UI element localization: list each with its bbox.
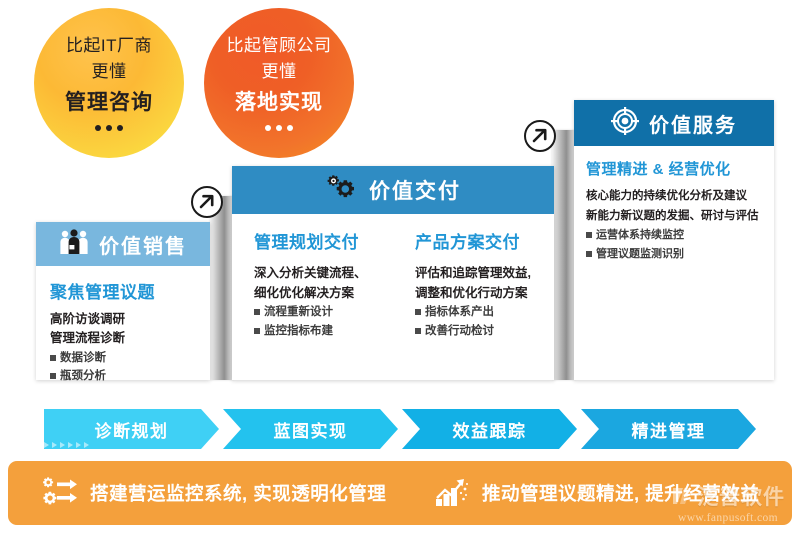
bullet-square-icon — [586, 251, 592, 257]
column-subtitle: 管理规划交付 — [254, 228, 385, 253]
lead-line: 细化优化解决方案 — [254, 283, 385, 303]
process-step-4[interactable]: 精进管理 — [581, 409, 756, 449]
arrow-up-right-circle-icon — [524, 120, 556, 152]
card-header: 价值交付 — [232, 166, 554, 214]
step-divider-2 — [552, 130, 576, 380]
bullet-square-icon — [415, 328, 421, 334]
bubble-line1: 比起IT厂商 — [66, 35, 152, 56]
lead-line: 核心能力的持续优化分析及建议 — [586, 187, 764, 207]
process-step-label: 蓝图实现 — [274, 417, 348, 442]
lead-line: 新能力新议题的发掘、研讨与评估 — [586, 207, 764, 227]
card-column: 管理规划交付 深入分析关键流程、 细化优化解决方案 流程重新设计 监控指标布建 — [232, 228, 393, 341]
process-step-2[interactable]: 蓝图实现 — [223, 409, 398, 449]
growth-chart-icon — [434, 476, 470, 510]
banner-item-text: 搭建营运监控系统, 实现透明化管理 — [90, 480, 386, 506]
bubble-line3: 落地实现 — [235, 90, 323, 116]
bullet-item: 运营体系持续监控 — [586, 226, 764, 245]
card-value-delivery[interactable]: 价值交付 管理规划交付 深入分析关键流程、 细化优化解决方案 流程重新设计 监控… — [232, 166, 554, 380]
lead-line: 调整和优化行动方案 — [415, 283, 546, 303]
process-step-label: 精进管理 — [632, 417, 706, 442]
lead-line: 管理流程诊断 — [50, 329, 196, 348]
bullet-label: 监控指标布建 — [264, 322, 333, 341]
card-column: 聚焦管理议题 高阶访谈调研 管理流程诊断 数据诊断 瓶颈分析 — [50, 278, 196, 386]
column-bullets: 流程重新设计 监控指标布建 — [254, 303, 385, 341]
card-header: 价值服务 — [574, 100, 774, 146]
bullet-label: 改善行动检讨 — [425, 322, 494, 341]
step-divider-1 — [210, 196, 234, 380]
process-step-band: 诊断规划 蓝图实现 效益跟踪 精进管理 — [44, 409, 756, 449]
bullet-square-icon — [50, 373, 56, 379]
bullet-label: 指标体系产出 — [425, 303, 494, 322]
process-step-1[interactable]: 诊断规划 — [44, 409, 219, 449]
column-subtitle: 聚焦管理议题 — [50, 278, 196, 303]
bubble-it-vendor: 比起IT厂商 更懂 管理咨询 — [34, 8, 184, 158]
bubble-consulting-firm: 比起管顾公司 更懂 落地实现 — [204, 8, 354, 158]
bullet-item: 瓶颈分析 — [50, 367, 196, 385]
banner-item-monitoring: 搭建营运监控系统, 实现透明化管理 — [8, 476, 400, 510]
bubble-line2: 更懂 — [262, 61, 297, 82]
gear-arrows-icon — [42, 476, 78, 510]
column-bullets: 数据诊断 瓶颈分析 — [50, 349, 196, 386]
card-body: 管理规划交付 深入分析关键流程、 细化优化解决方案 流程重新设计 监控指标布建 … — [232, 214, 554, 341]
card-title: 价值交付 — [369, 175, 461, 205]
bullet-label: 运营体系持续监控 — [596, 226, 684, 245]
bullet-label: 瓶颈分析 — [60, 367, 106, 385]
column-bullets: 指标体系产出 改善行动检讨 — [415, 303, 546, 341]
bullet-item: 监控指标布建 — [254, 322, 385, 341]
column-lead: 核心能力的持续优化分析及建议 新能力新议题的发掘、研讨与评估 — [586, 187, 764, 226]
bullet-item: 改善行动检讨 — [415, 322, 546, 341]
bullet-item: 数据诊断 — [50, 349, 196, 367]
card-column: 管理精进 & 经营优化 核心能力的持续优化分析及建议 新能力新议题的发掘、研讨与… — [586, 158, 764, 263]
column-subtitle: 产品方案交付 — [415, 228, 546, 253]
card-header: 价值销售 — [36, 222, 210, 266]
bullet-square-icon — [254, 328, 260, 334]
people-group-icon — [59, 229, 89, 260]
column-lead: 高阶访谈调研 管理流程诊断 — [50, 310, 196, 349]
column-lead: 深入分析关键流程、 细化优化解决方案 — [254, 263, 385, 303]
bottom-summary-banner: 搭建营运监控系统, 实现透明化管理 — [8, 461, 792, 525]
lead-line: 深入分析关键流程、 — [254, 263, 385, 283]
banner-item-text: 推动管理议题精进, 提升经营效益 — [482, 480, 759, 506]
bubble-dots — [95, 125, 123, 131]
bullet-label: 管理议题监测识别 — [596, 245, 684, 264]
bullet-square-icon — [415, 309, 421, 315]
process-step-label: 效益跟踪 — [453, 417, 527, 442]
gears-icon — [325, 174, 359, 207]
card-title: 价值服务 — [649, 109, 737, 138]
bubble-line2: 更懂 — [92, 61, 127, 82]
bullet-square-icon — [254, 309, 260, 315]
card-body: 聚焦管理议题 高阶访谈调研 管理流程诊断 数据诊断 瓶颈分析 — [36, 266, 210, 386]
bubble-line3: 管理咨询 — [65, 90, 153, 116]
banner-item-improvement: 推动管理议题精进, 提升经营效益 — [400, 476, 792, 510]
card-title: 价值销售 — [99, 230, 187, 259]
column-bullets: 运营体系持续监控 管理议题监测识别 — [586, 226, 764, 263]
process-step-3[interactable]: 效益跟踪 — [402, 409, 577, 449]
arrow-up-right-circle-icon — [191, 186, 223, 218]
lead-line: 评估和追踪管理效益, — [415, 263, 546, 283]
bubble-dots — [265, 125, 293, 131]
mini-chevrons-decoration — [44, 442, 89, 448]
bullet-label: 数据诊断 — [60, 349, 106, 367]
column-subtitle: 管理精进 & 经营优化 — [586, 158, 764, 179]
bullet-label: 流程重新设计 — [264, 303, 333, 322]
card-column: 产品方案交付 评估和追踪管理效益, 调整和优化行动方案 指标体系产出 改善行动检… — [393, 228, 554, 341]
lead-line: 高阶访谈调研 — [50, 310, 196, 329]
bullet-item: 流程重新设计 — [254, 303, 385, 322]
bullet-item: 指标体系产出 — [415, 303, 546, 322]
bullet-square-icon — [586, 232, 592, 238]
target-radar-icon — [611, 107, 639, 140]
bullet-square-icon — [50, 355, 56, 361]
column-lead: 评估和追踪管理效益, 调整和优化行动方案 — [415, 263, 546, 303]
bubble-line1: 比起管顾公司 — [227, 35, 332, 56]
card-body: 管理精进 & 经营优化 核心能力的持续优化分析及建议 新能力新议题的发掘、研讨与… — [574, 146, 774, 263]
infographic-canvas: 比起IT厂商 更懂 管理咨询 比起管顾公司 更懂 落地实现 — [0, 0, 800, 534]
bullet-item: 管理议题监测识别 — [586, 245, 764, 264]
card-value-sales[interactable]: 价值销售 聚焦管理议题 高阶访谈调研 管理流程诊断 数据诊断 瓶颈分析 — [36, 222, 210, 380]
process-step-label: 诊断规划 — [95, 417, 169, 442]
card-value-service[interactable]: 价值服务 管理精进 & 经营优化 核心能力的持续优化分析及建议 新能力新议题的发… — [574, 100, 774, 380]
